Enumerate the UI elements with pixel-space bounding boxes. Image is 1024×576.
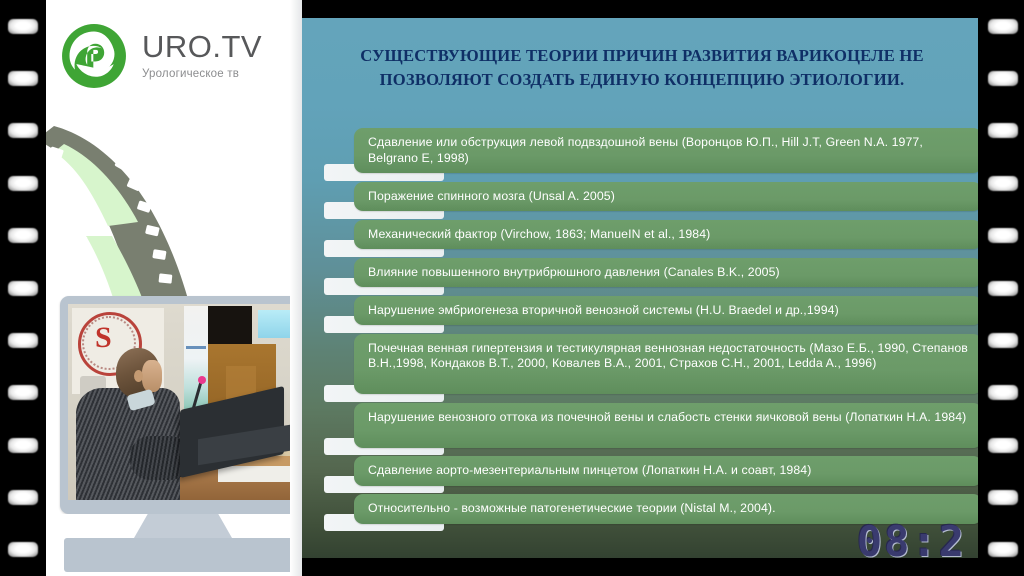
presenter-photo: S — [68, 304, 300, 500]
film-sprocket-hole — [8, 490, 38, 505]
theory-item-box: Нарушение венозного оттока из почечной в… — [354, 403, 982, 448]
theory-item-text: Почечная венная гипертензия и тестикуляр… — [368, 341, 970, 372]
theory-item-text: Сдавление или обструкция левой подвздошн… — [368, 135, 970, 166]
list-item: Почечная венная гипертензия и тестикуляр… — [302, 334, 982, 403]
theory-item-box: Механический фактор (Virchow, 1863; Manu… — [354, 220, 982, 250]
monitor-stand-base — [64, 538, 302, 572]
film-sprocket-hole — [988, 542, 1018, 557]
film-sprocket-hole — [988, 176, 1018, 191]
panel-edge-shadow — [290, 0, 302, 576]
film-strip-left — [0, 0, 46, 576]
film-strip-icon — [46, 118, 252, 318]
film-sprocket-hole — [988, 19, 1018, 34]
film-sprocket-hole — [8, 333, 38, 348]
presentation-slide[interactable]: СУЩЕСТВУЮЩИЕ ТЕОРИИ ПРИЧИН РАЗВИТИЯ ВАРИ… — [302, 0, 982, 576]
film-strip-right — [978, 0, 1024, 576]
film-sprocket-hole — [8, 281, 38, 296]
uro-tv-logo[interactable]: URO.TV Урологическое тв — [60, 22, 262, 90]
playback-timer: 08:2 — [857, 517, 966, 566]
theory-item-box: Сдавление или обструкция левой подвздошн… — [354, 128, 982, 173]
video-player-monitor[interactable]: S — [60, 296, 302, 576]
film-sprocket-hole — [8, 19, 38, 34]
film-sprocket-hole — [8, 542, 38, 557]
theory-item-box: Почечная венная гипертензия и тестикуляр… — [354, 334, 982, 395]
list-item: Сдавление или обструкция левой подвздошн… — [302, 128, 982, 182]
screenshot-root: URO.TV Урологическое тв — [0, 0, 1024, 576]
theory-item-text: Механический фактор (Virchow, 1863; Manu… — [368, 227, 970, 243]
film-sprocket-hole — [988, 71, 1018, 86]
theory-item-box: Поражение спинного мозга (Unsal A. 2005) — [354, 182, 982, 212]
list-item: Поражение спинного мозга (Unsal A. 2005) — [302, 182, 982, 220]
theory-item-text: Нарушение венозного оттока из почечной в… — [368, 410, 970, 426]
slide-letterbox-top — [302, 0, 982, 18]
theory-item-box: Сдавление аорто-мезентериальным пинцетом… — [354, 456, 982, 486]
theory-item-text: Поражение спинного мозга (Unsal A. 2005) — [368, 189, 970, 205]
slide-title: СУЩЕСТВУЮЩИЕ ТЕОРИИ ПРИЧИН РАЗВИТИЯ ВАРИ… — [336, 44, 948, 92]
list-item: Влияние повышенного внутрибрюшного давле… — [302, 258, 982, 296]
list-item: Нарушение венозного оттока из почечной в… — [302, 403, 982, 457]
film-sprocket-hole — [988, 490, 1018, 505]
theory-item-text: Сдавление аорто-мезентериальным пинцетом… — [368, 463, 970, 479]
branding-panel: URO.TV Урологическое тв — [46, 0, 302, 576]
film-sprocket-hole — [8, 385, 38, 400]
film-sprocket-hole — [988, 438, 1018, 453]
list-item: Механический фактор (Virchow, 1863; Manu… — [302, 220, 982, 258]
theory-item-text: Влияние повышенного внутрибрюшного давле… — [368, 265, 970, 281]
film-sprocket-hole — [8, 176, 38, 191]
theory-item-text: Нарушение эмбриогенеза вторичной венозно… — [368, 303, 970, 319]
film-sprocket-hole — [988, 123, 1018, 138]
film-sprocket-hole — [8, 228, 38, 243]
film-sprocket-hole — [8, 438, 38, 453]
film-sprocket-hole — [8, 123, 38, 138]
brand-name: URO.TV — [142, 31, 262, 62]
theory-list: Сдавление или обструкция левой подвздошн… — [302, 128, 982, 532]
theory-item-text: Относительно - возможные патогенетически… — [368, 501, 970, 517]
film-sprocket-hole — [8, 71, 38, 86]
list-item: Сдавление аорто-мезентериальным пинцетом… — [302, 456, 982, 494]
film-sprocket-hole — [988, 333, 1018, 348]
theory-item-box: Нарушение эмбриогенеза вторичной венозно… — [354, 296, 982, 326]
brand-tagline: Урологическое тв — [142, 69, 262, 81]
film-sprocket-hole — [988, 281, 1018, 296]
film-sprocket-hole — [988, 385, 1018, 400]
list-item: Нарушение эмбриогенеза вторичной венозно… — [302, 296, 982, 334]
film-sprocket-hole — [988, 228, 1018, 243]
slide-content: СУЩЕСТВУЮЩИЕ ТЕОРИИ ПРИЧИН РАЗВИТИЯ ВАРИ… — [302, 18, 982, 558]
theory-item-box: Влияние повышенного внутрибрюшного давле… — [354, 258, 982, 288]
presenter-video-screen[interactable]: S — [68, 304, 300, 500]
monitor-stand-neck — [134, 514, 232, 538]
uro-tv-circle-logo-icon — [60, 22, 128, 90]
